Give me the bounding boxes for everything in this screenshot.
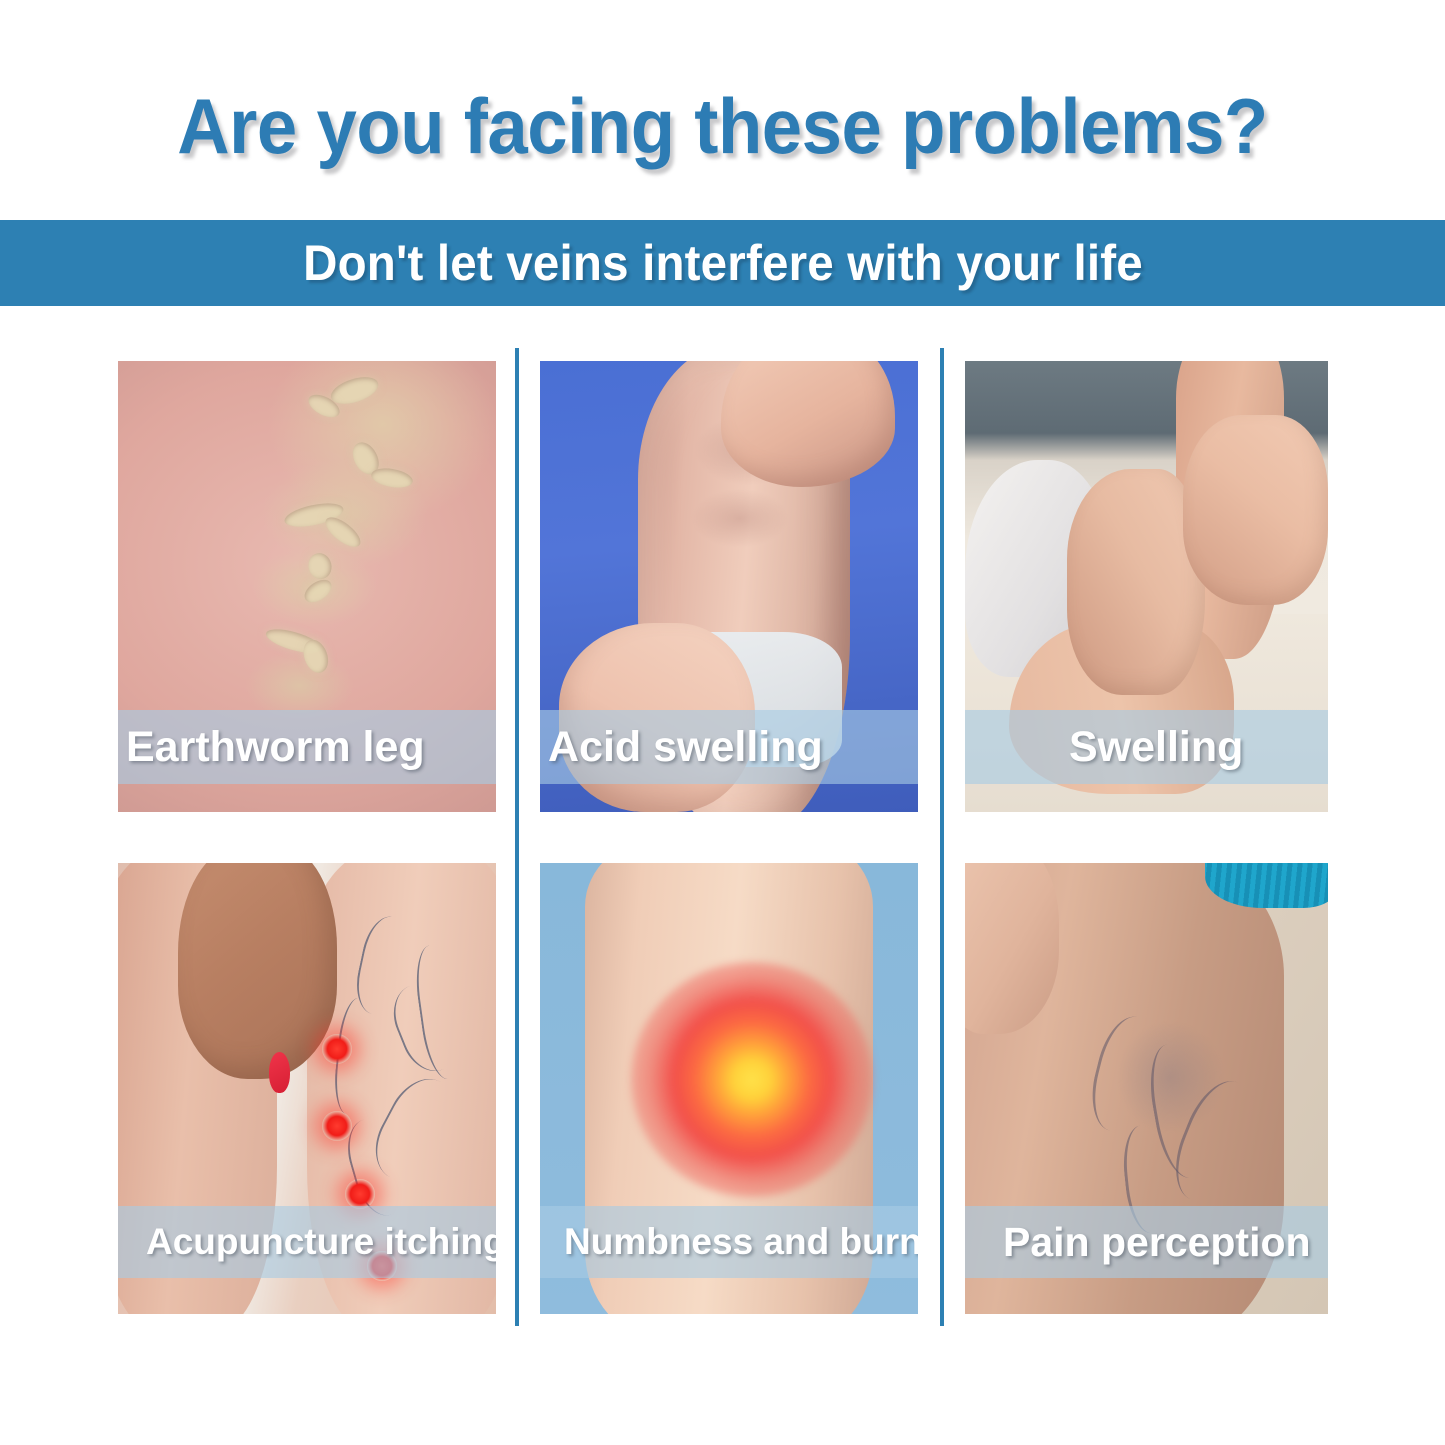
grid-divider-1: [515, 348, 519, 1326]
symptom-caption: Swelling: [965, 723, 1243, 772]
symptom-card-pain-perception[interactable]: Pain perception: [965, 863, 1328, 1314]
infographic-page: Are you facing these problems? Don't let…: [0, 0, 1445, 1445]
ankle-massage-photo: Swelling: [965, 361, 1328, 812]
burning-leg-photo: Numbness and burning: [540, 863, 918, 1314]
acupuncture-point: [322, 1111, 352, 1141]
symptom-caption: Numbness and burning: [540, 1221, 918, 1263]
symptom-caption: Pain perception: [965, 1219, 1311, 1266]
caption-band: Swelling: [965, 710, 1328, 784]
symptom-card-numbness-burning[interactable]: Numbness and burning: [540, 863, 918, 1314]
caption-band: Acupuncture itching: [118, 1206, 496, 1278]
subtitle-banner: Don't let veins interfere with your life: [0, 220, 1445, 306]
red-fingernail: [269, 1052, 290, 1093]
symptom-card-acupuncture-itching[interactable]: Acupuncture itching: [118, 863, 496, 1314]
heat-glow: [631, 962, 873, 1197]
symptom-card-acid-swelling[interactable]: Acid swelling: [540, 361, 918, 812]
varicose-leg-photo: Earthworm leg: [118, 361, 496, 812]
hand-upper: [721, 361, 895, 487]
subtitle-text: Don't let veins interfere with your life: [303, 235, 1143, 291]
symptom-card-swelling[interactable]: Swelling: [965, 361, 1328, 812]
symptom-caption: Acid swelling: [540, 723, 823, 772]
caption-band: Pain perception: [965, 1206, 1328, 1278]
hand-back: [1183, 415, 1328, 604]
grid-divider-2: [940, 348, 944, 1326]
caption-band: Earthworm leg: [118, 710, 496, 784]
acupuncture-point: [345, 1179, 375, 1209]
spider-veins-photo: Acupuncture itching: [118, 863, 496, 1314]
page-title: Are you facing these problems?: [51, 78, 1395, 174]
symptom-caption: Acupuncture itching: [118, 1221, 496, 1263]
ankle-veins-photo: Pain perception: [965, 863, 1328, 1314]
symptom-caption: Earthworm leg: [118, 723, 425, 772]
symptom-grid: Earthworm leg Acid swelling: [0, 330, 1445, 1340]
symptom-card-earthworm-leg[interactable]: Earthworm leg: [118, 361, 496, 812]
caption-band: Acid swelling: [540, 710, 918, 784]
caption-band: Numbness and burning: [540, 1206, 918, 1278]
swollen-leg-bandage-photo: Acid swelling: [540, 361, 918, 812]
hand-touching-leg: [178, 863, 337, 1079]
